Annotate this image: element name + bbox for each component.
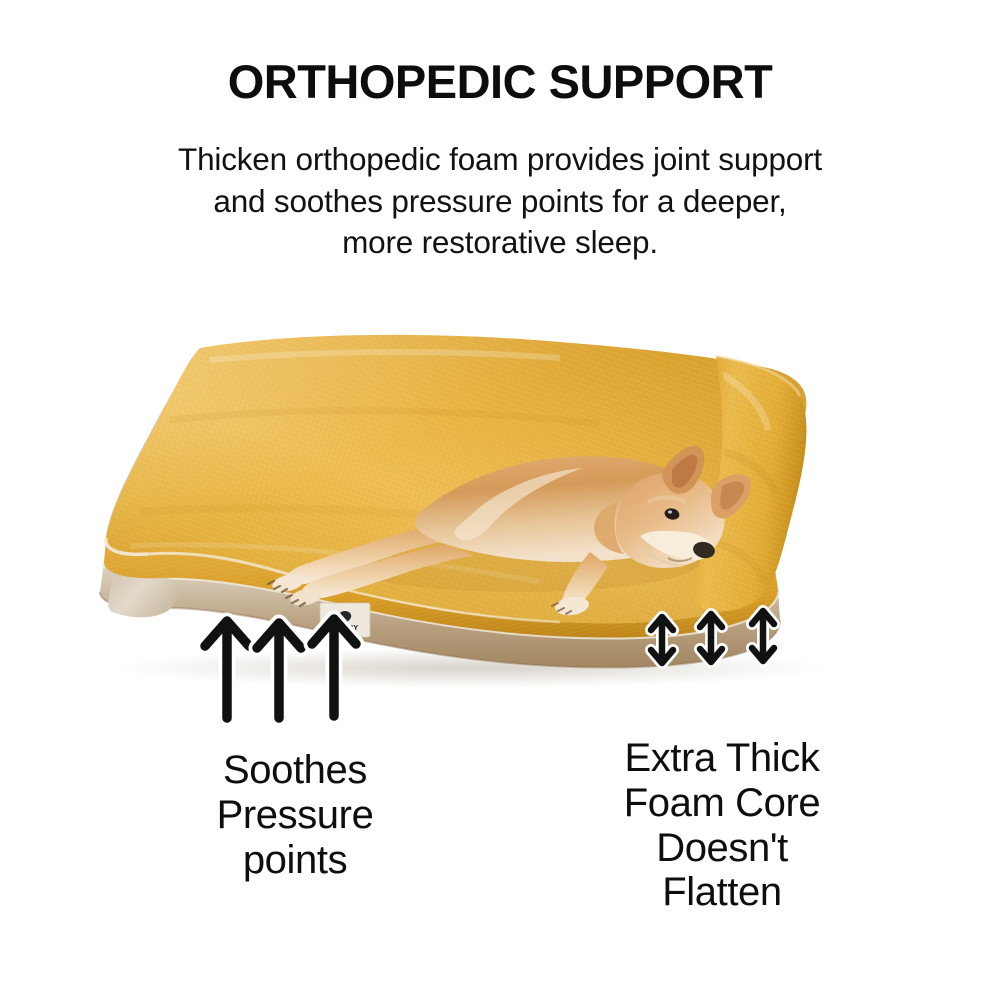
callout-right-line-2: Foam Core [552,781,892,826]
double-headed-vertical-arrow-icon [700,614,722,662]
callout-left-line-3: points [150,838,440,883]
callout-right-line-1: Extra Thick [552,736,892,781]
subtitle-line-1: Thicken orthopedic foam provides joint s… [0,139,1000,181]
subtitle-line-3: more restorative sleep. [0,222,1000,264]
double-headed-vertical-arrow-icon [752,611,774,661]
subtitle-line-2: and soothes pressure points for a deeper… [0,181,1000,223]
up-arrow-icon [205,621,249,718]
callout-right-line-4: Flatten [552,870,892,915]
annotation-arrows-left [196,606,376,746]
callout-label-soothes-pressure-points: Soothes Pressure points [150,748,440,882]
page-title: ORTHOPEDIC SUPPORT [0,58,1000,105]
callout-label-extra-thick-foam-core: Extra Thick Foam Core Doesn't Flatten [552,736,892,915]
annotation-arrows-right [645,608,795,688]
callout-left-line-1: Soothes [150,748,440,793]
callout-right-line-3: Doesn't [552,826,892,871]
double-headed-vertical-arrow-icon [651,617,673,663]
subtitle: Thicken orthopedic foam provides joint s… [0,139,1000,264]
up-arrow-icon [257,623,301,718]
header-text-block: ORTHOPEDIC SUPPORT Thicken orthopedic fo… [0,0,1000,264]
callout-left-line-2: Pressure [150,793,440,838]
product-image-orthopedic-dog-bed: FUNNY FUZZY [0,300,1000,720]
up-arrow-icon [312,619,356,716]
